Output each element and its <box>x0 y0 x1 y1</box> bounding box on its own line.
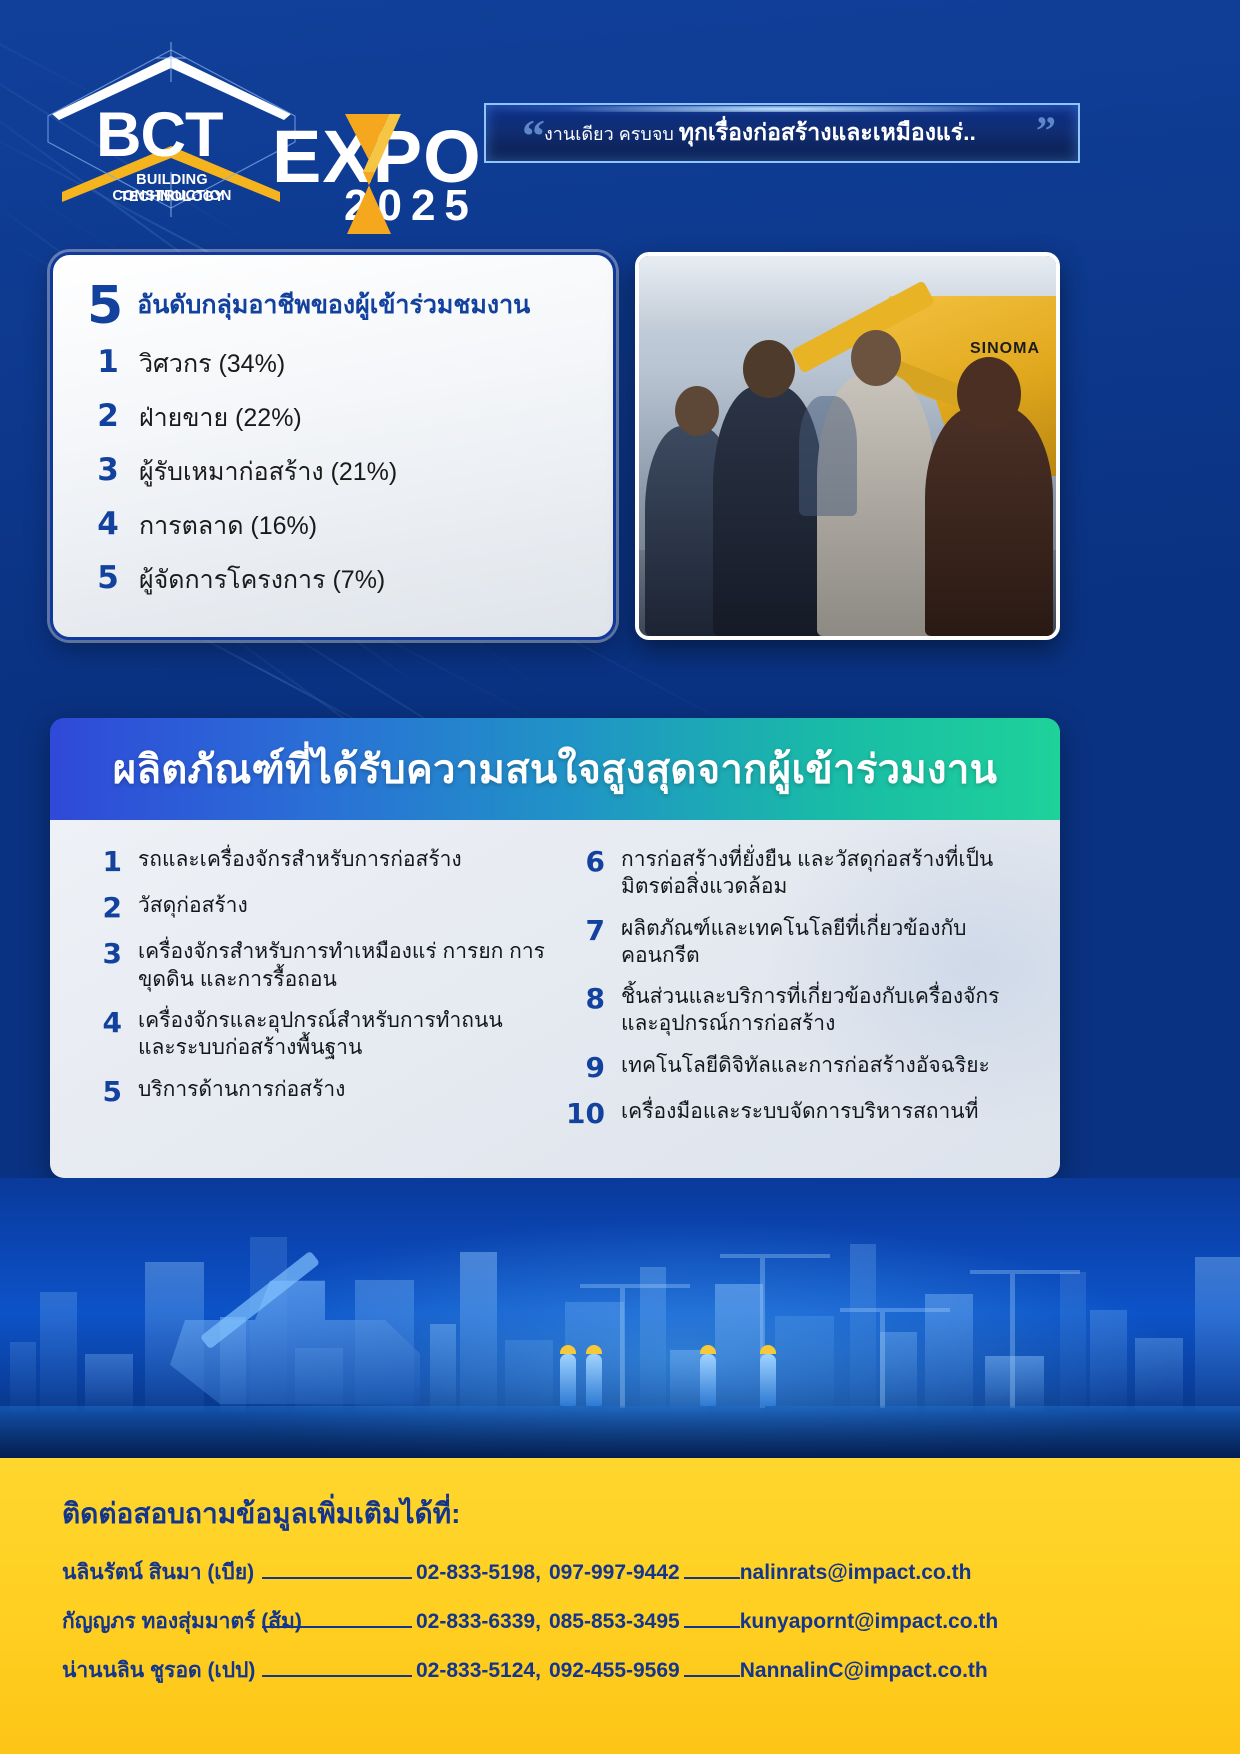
list-item-label: วัสดุก่อสร้าง <box>138 892 248 924</box>
contact-row: น่านนลิน ชูรอด (เปป) 02-833-5124, 092-45… <box>62 1654 1178 1687</box>
contact-leader-line <box>262 1614 412 1628</box>
photo-person-head <box>851 330 901 386</box>
list-item: 2 ฝ่ายขาย (22%) <box>87 398 579 438</box>
city-building <box>715 1284 763 1412</box>
contact-footer-title: ติดต่อสอบถามข้อมูลเพิ่มเติมได้ที่: <box>62 1492 1178 1536</box>
city-building <box>1090 1310 1127 1412</box>
city-building <box>1135 1338 1183 1412</box>
city-building <box>850 1244 876 1412</box>
contact-phone-secondary[interactable]: 085-853-3495 <box>545 1610 684 1634</box>
city-building <box>10 1342 36 1412</box>
list-item: 9 เทคโนโลยีดิจิทัลและการก่อสร้างอัจฉริยะ <box>565 1052 1028 1084</box>
city-building <box>460 1252 497 1412</box>
contact-footer: ติดต่อสอบถามข้อมูลเพิ่มเติมได้ที่: นลินร… <box>0 1458 1240 1754</box>
city-building <box>1195 1257 1240 1412</box>
city-crane-mast <box>1010 1274 1015 1408</box>
city-ground-tracks <box>0 1406 1240 1458</box>
list-item-label: เครื่องจักรสำหรับการทำเหมืองแร่ การยก กา… <box>138 938 545 993</box>
list-item-number: 1 <box>82 846 122 878</box>
list-item-number: 10 <box>565 1098 605 1130</box>
contact-leader-line <box>262 1565 412 1579</box>
occupations-title: อันดับกลุ่มอาชีพของผู้เข้าร่วมชมงาน <box>137 285 530 330</box>
list-item-label: ชิ้นส่วนและบริการที่เกี่ยวข้องกับเครื่อง… <box>621 983 1028 1038</box>
list-item: 10 เครื่องมือและระบบจัดการบริหารสถานที่ <box>565 1098 1028 1130</box>
list-item: 3 ผู้รับเหมาก่อสร้าง (21%) <box>87 452 579 492</box>
tagline-text: งานเดียว ครบจบ ทุกเรื่องก่อสร้างและเหมือ… <box>486 115 1078 151</box>
contact-phone-primary[interactable]: 02-833-6339, <box>412 1610 545 1634</box>
products-column-right: 6 การก่อสร้างที่ยั่งยืน และวัสดุก่อสร้าง… <box>555 846 1038 1160</box>
occupations-heading: 5 อันดับกลุ่มอาชีพของผู้เข้าร่วมชมงาน <box>87 283 579 330</box>
list-item-number: 9 <box>565 1052 605 1084</box>
contact-phone-primary[interactable]: 02-833-5198, <box>412 1561 545 1585</box>
bct-expo-logo: BCT BUILDING CONSTRUCTION TECHNOLOGY EXP… <box>44 42 444 217</box>
city-building <box>505 1340 553 1412</box>
photo-person <box>799 396 857 516</box>
contact-email[interactable]: NannalinC@impact.co.th <box>740 1659 988 1683</box>
list-item-label: รถและเครื่องจักรสำหรับการก่อสร้าง <box>138 846 462 878</box>
list-item-label: ผู้จัดการโครงการ (7%) <box>139 560 385 600</box>
list-item: 6 การก่อสร้างที่ยั่งยืน และวัสดุก่อสร้าง… <box>565 846 1028 901</box>
photo-person <box>925 406 1053 636</box>
header: BCT BUILDING CONSTRUCTION TECHNOLOGY EXP… <box>0 0 1240 230</box>
occupations-card: 5 อันดับกลุ่มอาชีพของผู้เข้าร่วมชมงาน 1 … <box>50 252 616 640</box>
contact-name: นลินรัตน์ สินมา (เบีย) <box>62 1556 262 1589</box>
city-crane-jib <box>580 1284 690 1288</box>
expo-x-chevron-icon <box>329 114 407 234</box>
list-item-number: 2 <box>82 892 122 924</box>
logo-bct-text: BCT <box>96 104 222 167</box>
list-item-number: 3 <box>95 455 121 486</box>
list-item-label: เครื่องจักรและอุปกรณ์สำหรับการทำถนน และร… <box>138 1007 545 1062</box>
list-item-number: 6 <box>565 846 605 901</box>
list-item-number: 1 <box>95 347 121 378</box>
photo-person-head <box>743 340 795 398</box>
list-item-number: 4 <box>82 1007 122 1062</box>
city-worker-helmet-icon <box>760 1345 776 1354</box>
list-item: 5 บริการด้านการก่อสร้าง <box>82 1076 545 1108</box>
city-worker-helmet-icon <box>586 1345 602 1354</box>
logo-subtitle-line2: TECHNOLOGY <box>82 189 262 205</box>
contact-leader-line <box>684 1614 740 1628</box>
city-worker-figure <box>560 1354 576 1406</box>
city-crane-jib <box>720 1254 830 1258</box>
city-worker-helmet-icon <box>700 1345 716 1354</box>
occupations-list: 1 วิศวกร (34%) 2 ฝ่ายขาย (22%) 3 ผู้รับเ… <box>87 344 579 600</box>
tagline-lead: งานเดียว ครบจบ <box>544 124 679 144</box>
tagline-banner: “ งานเดียว ครบจบ ทุกเรื่องก่อสร้างและเหม… <box>484 103 1080 163</box>
products-title: ผลิตภัณฑ์ที่ได้รับความสนใจสูงสุดจากผู้เข… <box>113 737 998 801</box>
city-building <box>40 1292 77 1412</box>
products-column-left: 1 รถและเครื่องจักรสำหรับการก่อสร้าง 2 วั… <box>72 846 555 1160</box>
contact-leader-line <box>684 1565 740 1579</box>
list-item-number: 2 <box>95 401 121 432</box>
products-section: ผลิตภัณฑ์ที่ได้รับความสนใจสูงสุดจากผู้เข… <box>50 718 1060 1178</box>
list-item-label: การก่อสร้างที่ยั่งยืน และวัสดุก่อสร้างที… <box>621 846 1028 901</box>
contact-email[interactable]: kunyapornt@impact.co.th <box>740 1610 999 1634</box>
contact-email[interactable]: nalinrats@impact.co.th <box>740 1561 972 1585</box>
contact-phone-secondary[interactable]: 097-997-9442 <box>545 1561 684 1585</box>
list-item: 4 เครื่องจักรและอุปกรณ์สำหรับการทำถนน แล… <box>82 1007 545 1062</box>
list-item-label: การตลาด (16%) <box>139 506 317 546</box>
list-item-label: ฝ่ายขาย (22%) <box>139 398 302 438</box>
construction-city-illustration <box>0 1178 1240 1458</box>
city-building <box>880 1332 917 1412</box>
photo-person-head <box>675 386 719 436</box>
city-worker-figure <box>760 1354 776 1406</box>
list-item: 5 ผู้จัดการโครงการ (7%) <box>87 560 579 600</box>
city-crane-jib <box>970 1270 1080 1274</box>
contact-leader-line <box>684 1663 740 1677</box>
contact-phone-secondary[interactable]: 092-455-9569 <box>545 1659 684 1683</box>
city-building <box>640 1267 666 1412</box>
city-worker-helmet-icon <box>560 1345 576 1354</box>
event-photo: SINOMA <box>635 252 1060 640</box>
contact-row: นลินรัตน์ สินมา (เบีย) 02-833-5198, 097-… <box>62 1556 1178 1589</box>
contact-row: กัญญภร ทองสุ่มมาตร์ (ส้ม) 02-833-6339, 0… <box>62 1605 1178 1638</box>
city-worker-figure <box>700 1354 716 1406</box>
contact-phone-primary[interactable]: 02-833-5124, <box>412 1659 545 1683</box>
list-item-number: 4 <box>95 509 121 540</box>
list-item-label: เครื่องมือและระบบจัดการบริหารสถานที่ <box>621 1098 979 1130</box>
list-item-number: 8 <box>565 983 605 1038</box>
list-item: 1 วิศวกร (34%) <box>87 344 579 384</box>
city-crane-jib <box>840 1308 950 1312</box>
products-body: 1 รถและเครื่องจักรสำหรับการก่อสร้าง 2 วั… <box>50 820 1060 1178</box>
photo-person-head <box>957 357 1021 431</box>
products-header: ผลิตภัณฑ์ที่ได้รับความสนใจสูงสุดจากผู้เข… <box>50 718 1060 820</box>
contact-leader-line <box>262 1663 412 1677</box>
list-item: 1 รถและเครื่องจักรสำหรับการก่อสร้าง <box>82 846 545 878</box>
photo-machine-brand-text: SINOMA <box>970 340 1040 358</box>
list-item-number: 7 <box>565 915 605 970</box>
city-worker-figure <box>586 1354 602 1406</box>
tagline-glow-decoration <box>488 106 1076 112</box>
city-building <box>430 1324 456 1412</box>
list-item-label: ผู้รับเหมาก่อสร้าง (21%) <box>139 452 397 492</box>
occupations-rank-number: 5 <box>87 283 123 330</box>
list-item: 3 เครื่องจักรสำหรับการทำเหมืองแร่ การยก … <box>82 938 545 993</box>
city-building <box>85 1354 133 1412</box>
list-item: 2 วัสดุก่อสร้าง <box>82 892 545 924</box>
tagline-bold: ทุกเรื่องก่อสร้างและเหมืองแร่.. <box>679 119 976 145</box>
contact-name: น่านนลิน ชูรอด (เปป) <box>62 1654 262 1687</box>
list-item-number: 3 <box>82 938 122 993</box>
list-item-label: ผลิตภัณฑ์และเทคโนโลยีที่เกี่ยวข้องกับคอน… <box>621 915 1028 970</box>
list-item: 8 ชิ้นส่วนและบริการที่เกี่ยวข้องกับเครื่… <box>565 983 1028 1038</box>
city-building <box>775 1316 834 1412</box>
list-item-label: วิศวกร (34%) <box>139 344 285 384</box>
list-item-label: บริการด้านการก่อสร้าง <box>138 1076 345 1108</box>
list-item-number: 5 <box>95 563 121 594</box>
contact-name: กัญญภร ทองสุ่มมาตร์ (ส้ม) <box>62 1605 262 1638</box>
city-building <box>1060 1272 1086 1412</box>
list-item: 7 ผลิตภัณฑ์และเทคโนโลยีที่เกี่ยวข้องกับค… <box>565 915 1028 970</box>
city-crane-mast <box>880 1312 885 1408</box>
list-item-label: เทคโนโลยีดิจิทัลและการก่อสร้างอัจฉริยะ <box>621 1052 990 1084</box>
list-item: 4 การตลาด (16%) <box>87 506 579 546</box>
city-crane-mast <box>620 1288 625 1408</box>
list-item-number: 5 <box>82 1076 122 1108</box>
